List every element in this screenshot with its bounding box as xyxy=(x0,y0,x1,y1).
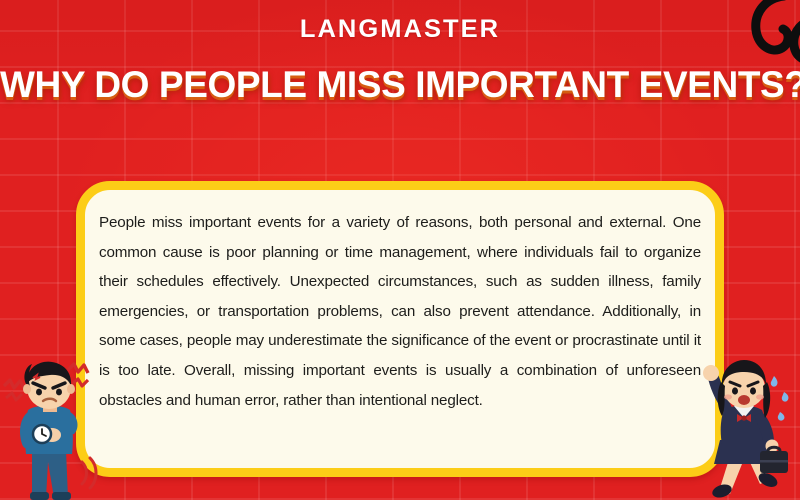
angry-man-illustration xyxy=(2,358,110,500)
page-title: WHY DO PEOPLE MISS IMPORTANT EVENTS? xyxy=(0,64,800,106)
poster-canvas: LANGMASTER WHY DO PEOPLE MISS IMPORTANT … xyxy=(0,0,800,500)
brand-logo: LANGMASTER xyxy=(0,15,800,44)
card-body-text: People miss important events for a varie… xyxy=(99,208,701,415)
panicked-girl-illustration xyxy=(694,358,798,500)
content-card: People miss important events for a varie… xyxy=(76,181,724,477)
poster-header: LANGMASTER WHY DO PEOPLE MISS IMPORTANT … xyxy=(0,0,800,106)
